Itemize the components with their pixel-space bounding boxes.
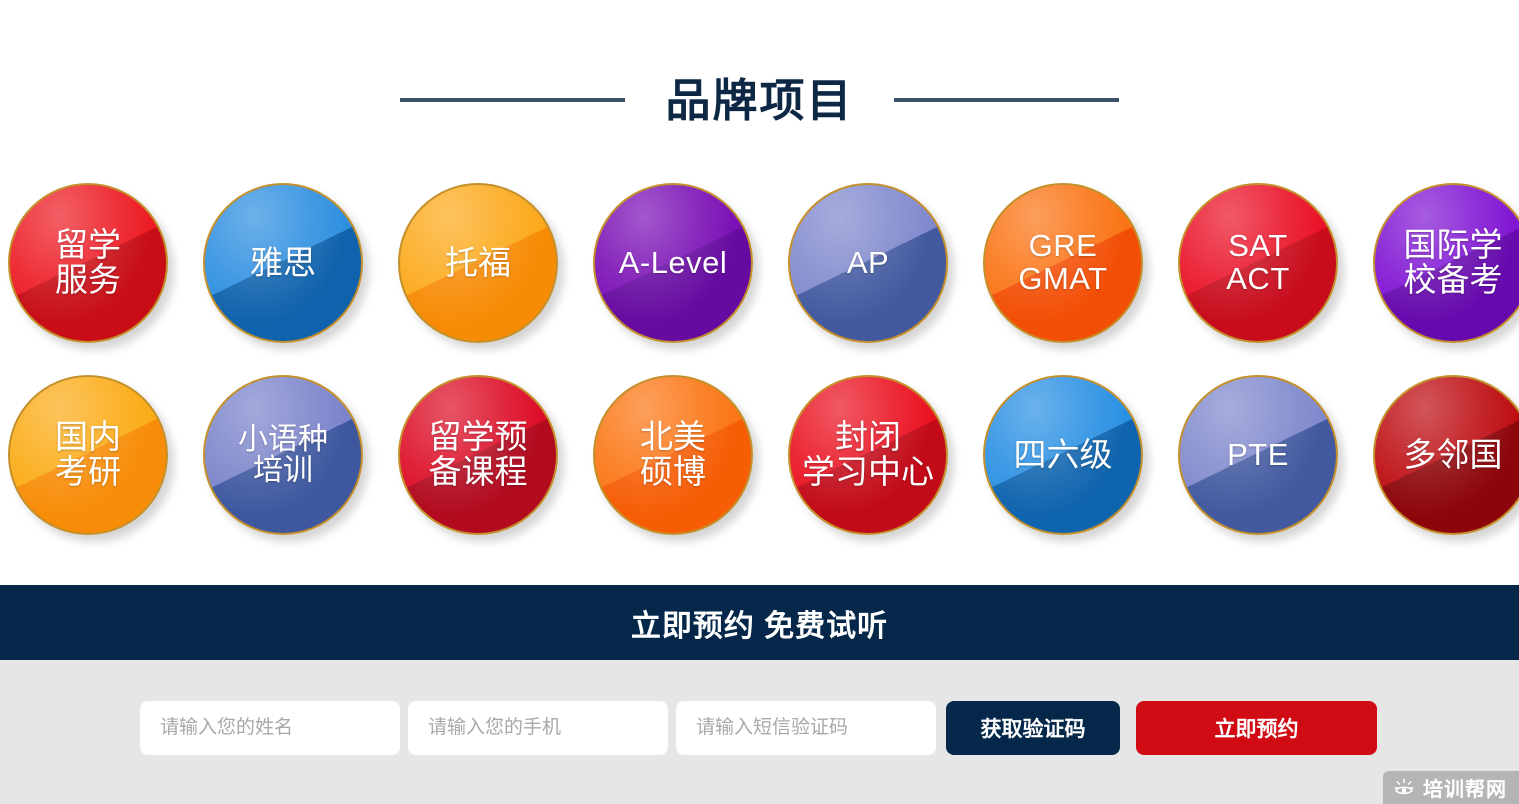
bubble-label: 国内 考研 bbox=[53, 420, 123, 489]
bubble-label: A-Level bbox=[617, 247, 730, 280]
bubble-sat-act[interactable]: SAT ACT bbox=[1178, 183, 1338, 343]
bubble-duolingguo[interactable]: 多邻国 bbox=[1373, 375, 1519, 535]
bubble-tuofu[interactable]: 托福 bbox=[398, 183, 558, 343]
bubble-label: 小语种 培训 bbox=[236, 424, 330, 487]
bubble-label: 托福 bbox=[443, 246, 513, 281]
bubble-row-1: 留学 服务雅思托福A-LevelAPGRE GMATSAT ACT国际学 校备考 bbox=[8, 183, 1519, 343]
bubble-label: 国际学 校备考 bbox=[1402, 228, 1505, 297]
cta-banner: 立即预约 免费试听 bbox=[0, 585, 1519, 660]
title-rule-right bbox=[894, 98, 1119, 102]
bubble-guoji-xuexiao[interactable]: 国际学 校备考 bbox=[1373, 183, 1519, 343]
title-rule-left bbox=[400, 98, 625, 102]
watermark-label: 培训帮网 bbox=[1423, 773, 1507, 802]
bubble-guonei-kaoyan[interactable]: 国内 考研 bbox=[8, 375, 168, 535]
phone-input[interactable] bbox=[408, 701, 668, 755]
cta-banner-text: 立即预约 免费试听 bbox=[631, 601, 888, 645]
sms-code-input[interactable] bbox=[676, 701, 936, 755]
bubble-gre-gmat[interactable]: GRE GMAT bbox=[983, 183, 1143, 343]
bubble-label: 北美 硕博 bbox=[638, 420, 708, 489]
page-title: 品牌项目 bbox=[665, 78, 853, 123]
bubble-label: SAT ACT bbox=[1224, 230, 1292, 295]
bubble-yasi[interactable]: 雅思 bbox=[203, 183, 363, 343]
name-input[interactable] bbox=[140, 701, 400, 755]
bubble-label: 留学 服务 bbox=[53, 228, 123, 297]
bubble-a-level[interactable]: A-Level bbox=[593, 183, 753, 343]
bubble-label: 留学预 备课程 bbox=[427, 420, 530, 489]
booking-form-area: 获取验证码 立即预约 bbox=[0, 660, 1519, 804]
booking-form: 获取验证码 立即预约 bbox=[140, 701, 1377, 755]
bubble-ap[interactable]: AP bbox=[788, 183, 948, 343]
site-watermark: 培训帮网 bbox=[1383, 771, 1519, 804]
bubble-beimei-shuobo[interactable]: 北美 硕博 bbox=[593, 375, 753, 535]
get-verification-code-button[interactable]: 获取验证码 bbox=[946, 701, 1120, 755]
bubble-label: 四六级 bbox=[1012, 438, 1115, 473]
bubble-label: AP bbox=[845, 247, 891, 280]
bubble-label: 封闭 学习中心 bbox=[790, 420, 946, 489]
submit-booking-button[interactable]: 立即预约 bbox=[1136, 701, 1377, 755]
bubble-pte[interactable]: PTE bbox=[1178, 375, 1338, 535]
bubble-fengbi-zhongxin[interactable]: 封闭 学习中心 bbox=[788, 375, 948, 535]
bubble-row-2: 国内 考研小语种 培训留学预 备课程北美 硕博封闭 学习中心四六级PTE多邻国 bbox=[8, 375, 1519, 535]
bubble-label: GRE GMAT bbox=[1016, 230, 1109, 295]
bubble-xiaoyuzhong[interactable]: 小语种 培训 bbox=[203, 375, 363, 535]
bubble-liuxue-yubei[interactable]: 留学预 备课程 bbox=[398, 375, 558, 535]
bubble-label: 多邻国 bbox=[1402, 438, 1505, 473]
bubble-label: 雅思 bbox=[248, 246, 318, 281]
eye-sun-icon bbox=[1393, 777, 1415, 799]
program-bubble-grid: 留学 服务雅思托福A-LevelAPGRE GMATSAT ACT国际学 校备考… bbox=[8, 183, 1519, 567]
bubble-liuxue-fuwu[interactable]: 留学 服务 bbox=[8, 183, 168, 343]
section-header: 品牌项目 bbox=[0, 60, 1519, 140]
bubble-siliuji[interactable]: 四六级 bbox=[983, 375, 1143, 535]
bubble-label: PTE bbox=[1225, 439, 1291, 472]
